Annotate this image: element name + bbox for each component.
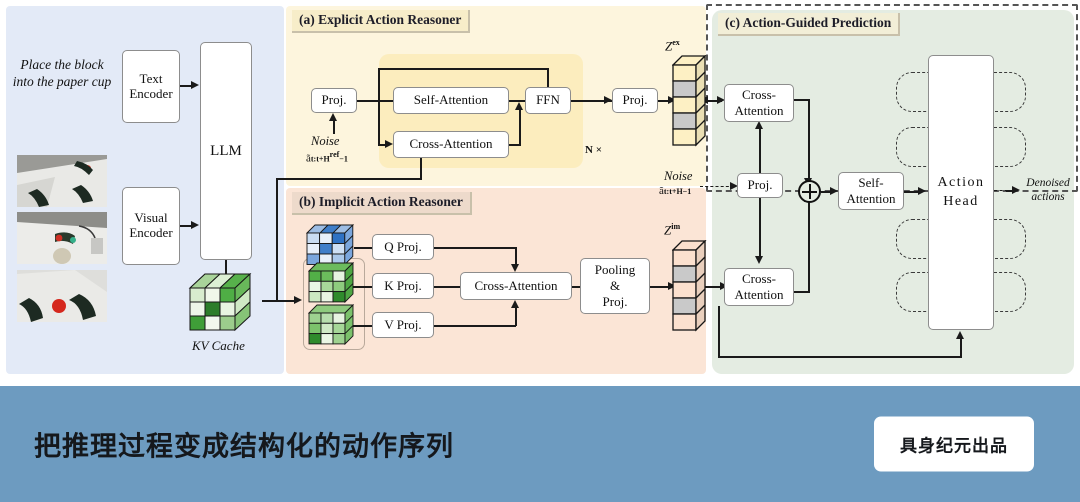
- arrow-split-crossattn-a: [385, 140, 393, 148]
- v-cube: [308, 304, 362, 353]
- line-feedback-up-c: [960, 338, 962, 357]
- frame-2-image: [17, 212, 107, 264]
- text-encoder-label: Text Encoder: [123, 72, 179, 101]
- cross-attention-c-bottom-label: Cross-Attention: [725, 271, 793, 302]
- kv-cache-cube-glyph: [188, 272, 262, 334]
- arrow-proj-crossattn-top-c: [755, 121, 763, 129]
- line-vproj-up: [515, 306, 517, 326]
- frame-1-image: [17, 155, 107, 207]
- line-crossattn-up-a: [519, 108, 521, 145]
- q-proj-label: Q Proj.: [384, 240, 422, 255]
- proj-out-box-a: Proj.: [612, 88, 658, 113]
- visual-encoder-label: Visual Encoder: [123, 211, 179, 240]
- noise-label-a: Noise: [311, 134, 339, 149]
- action-head-line-2: Head: [943, 193, 979, 211]
- proj-box-c: Proj.: [737, 173, 783, 198]
- camera-frame-2: [17, 212, 107, 264]
- v-proj-box: V Proj.: [372, 312, 434, 338]
- caption-bar: 把推理过程变成结构化的动作序列 具身纪元出品: [0, 386, 1080, 502]
- line-qproj-right: [434, 247, 516, 249]
- k-proj-label: K Proj.: [384, 279, 422, 294]
- noise-sub-body-c: t:t+H−1: [664, 187, 691, 196]
- caption-badge: 具身纪元出品: [874, 417, 1034, 472]
- zim-stack-glyph: [672, 240, 712, 336]
- task-instruction-text: Place the block into the paper cup: [10, 56, 114, 91]
- section-title-explicit: (a) Explicit Action Reasoner: [292, 10, 470, 33]
- line-kvcache-out: [262, 300, 298, 302]
- line-proj-split-a: [357, 100, 393, 102]
- dashed-line-noise-proj-c: [700, 186, 734, 187]
- line-kvcache-up: [276, 178, 278, 300]
- pooling-proj-box: Pooling & Proj.: [580, 258, 650, 314]
- pooling-line-3: Proj.: [603, 294, 628, 310]
- cross-attention-label-a: Cross-Attention: [409, 137, 492, 152]
- denoised-actions-line-2: actions: [1031, 191, 1064, 203]
- repeat-count-label: N ×: [585, 144, 602, 156]
- ffn-label: FFN: [536, 93, 560, 108]
- arrow-visenc-llm: [191, 221, 199, 229]
- section-title-prediction: (c) Action-Guided Prediction: [718, 13, 900, 36]
- frame-3-image: [17, 270, 107, 322]
- sum-operator-node: [798, 180, 821, 203]
- architecture-figure: (a) Explicit Action Reasoner (b) Implici…: [0, 0, 1080, 380]
- line-residual-across-a: [378, 68, 548, 70]
- zim-token-stack: [672, 240, 712, 341]
- k-cube-glyph: [308, 262, 362, 306]
- zex-stack-glyph: [672, 55, 712, 151]
- pooling-line-1: Pooling: [595, 262, 635, 278]
- ffn-box: FFN: [525, 87, 571, 114]
- zex-token-stack: [672, 55, 712, 156]
- noise-sub-tail-a: −1: [339, 155, 348, 164]
- line-feedback-bottom-c: [718, 356, 962, 358]
- noise-sub-sup-a: ref: [330, 150, 340, 159]
- arrow-selfattn-actionhead: [918, 187, 926, 195]
- action-head-line-1: Action: [937, 174, 984, 192]
- arrow-noise-proj-a: [329, 113, 337, 121]
- action-head-box: Action Head: [928, 55, 994, 330]
- arrow-qproj-crossattn: [511, 264, 519, 272]
- arrow-oplus-selfattn-c: [830, 187, 838, 195]
- proj-out-label-a: Proj.: [623, 93, 648, 108]
- v-proj-label: V Proj.: [384, 318, 421, 333]
- camera-frame-1: [17, 155, 107, 207]
- caption-headline: 把推理过程变成结构化的动作序列: [34, 425, 454, 464]
- line-crossattn-bottom-up-c: [808, 200, 810, 292]
- kv-cache-cube: [188, 272, 262, 334]
- line-feedback-left-c: [718, 306, 720, 357]
- self-attention-c-label: Self-Attention: [839, 175, 903, 206]
- k-proj-box: K Proj.: [372, 273, 434, 299]
- llm-box: LLM: [200, 42, 252, 260]
- noise-subscript-a: ãt:t+Href−1: [306, 150, 348, 165]
- line-proj-down-c: [759, 198, 761, 258]
- denoised-actions-label: Denoised actions: [1019, 176, 1077, 204]
- text-encoder-box: Text Encoder: [122, 50, 180, 123]
- cross-attention-box-c-top: Cross-Attention: [724, 84, 794, 122]
- cross-attention-label-b: Cross-Attention: [474, 279, 557, 294]
- proj-in-box-a: Proj.: [311, 88, 357, 113]
- zim-stack-label: Zim: [664, 222, 680, 238]
- v-cube-glyph: [308, 304, 362, 348]
- camera-frame-3: [17, 270, 107, 322]
- proj-c-label: Proj.: [748, 178, 773, 193]
- kv-cache-label: KV Cache: [192, 338, 245, 354]
- arrow-vproj-crossattn: [511, 300, 519, 308]
- line-proj-up-c: [759, 128, 761, 174]
- q-proj-box: Q Proj.: [372, 234, 434, 260]
- cross-attention-c-top-label: Cross-Attention: [725, 87, 793, 118]
- noise-subscript-c: ãt:t+H−1: [659, 185, 691, 197]
- line-kproj-crossattn: [434, 286, 460, 288]
- line-kvcache-to-crossattn: [276, 178, 422, 180]
- zex-stack-label: Zex: [665, 38, 680, 54]
- line-crossattn-top-down-c: [808, 99, 810, 184]
- self-attention-label-a: Self-Attention: [414, 93, 488, 108]
- arrow-proj-crossattn-bottom-c: [755, 256, 763, 264]
- noise-label-c: Noise: [664, 169, 692, 184]
- cross-attention-box-b: Cross-Attention: [460, 272, 572, 300]
- proj-in-label-a: Proj.: [322, 93, 347, 108]
- arrow-textenc-llm: [191, 81, 199, 89]
- cross-attention-box-c-bottom: Cross-Attention: [724, 268, 794, 306]
- pooling-line-2: &: [610, 278, 620, 294]
- arrow-crossattn-merge-a: [515, 102, 523, 110]
- line-vproj-right: [434, 325, 516, 327]
- llm-label: LLM: [210, 143, 242, 160]
- zim-sup: im: [671, 222, 680, 231]
- arrow-ffn-projout-a: [604, 96, 612, 104]
- section-title-implicit: (b) Implicit Action Reasoner: [292, 192, 472, 215]
- noise-sub-body-a: t:t+H: [311, 155, 330, 164]
- self-attention-box-a: Self-Attention: [393, 87, 509, 114]
- arrow-feedback-actionhead: [956, 331, 964, 339]
- zex-sup: ex: [672, 38, 680, 47]
- line-residual-up-a: [378, 68, 380, 101]
- line-split-down-a: [378, 100, 380, 145]
- cross-attention-box-a: Cross-Attention: [393, 131, 509, 158]
- self-attention-box-c: Self-Attention: [838, 172, 904, 210]
- denoised-actions-line-1: Denoised: [1026, 177, 1069, 189]
- line-crossattn-pooling: [572, 286, 580, 288]
- arrow-kvcache-kvgroup: [294, 296, 302, 304]
- visual-encoder-box: Visual Encoder: [122, 187, 180, 265]
